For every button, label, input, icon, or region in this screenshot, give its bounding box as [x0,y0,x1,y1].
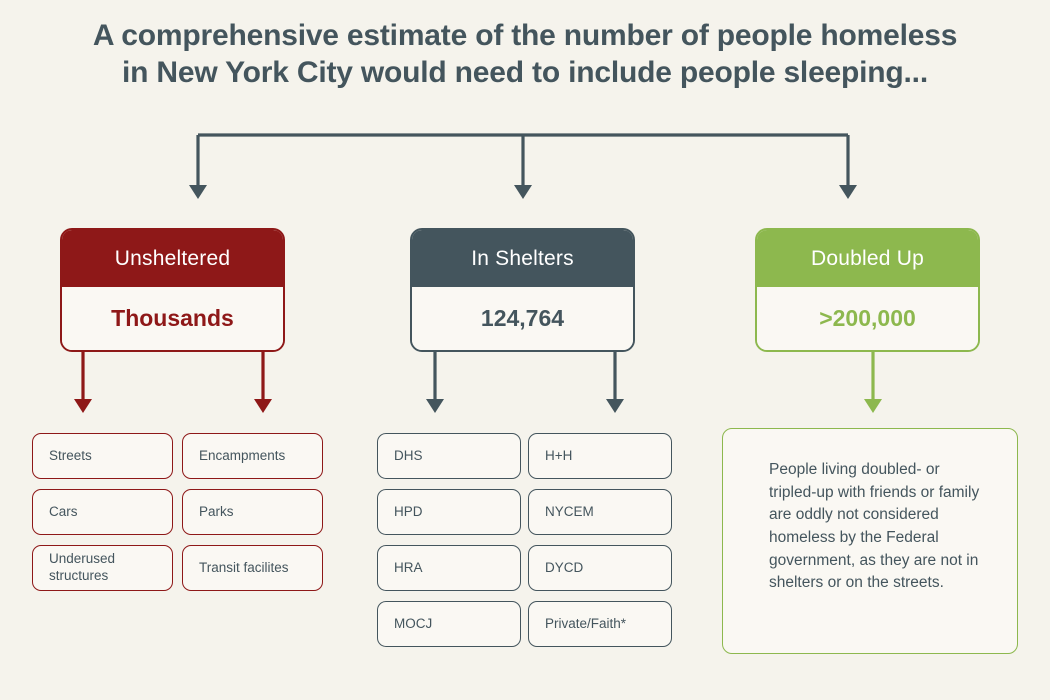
category-card-shelters[interactable]: In Shelters 124,764 [410,228,635,352]
list-item-shelter-nycem[interactable]: NYCEM [528,489,672,535]
category-card-doubled-up[interactable]: Doubled Up >200,000 [755,228,980,352]
category-value-shelters: 124,764 [412,287,633,350]
arrowhead-shelters-right [606,399,624,413]
chip-label: Encampments [199,448,285,465]
category-header-unsheltered: Unsheltered [62,230,283,287]
arrowhead-doubled-up-bottom [864,399,882,413]
top-bracket-connector [0,0,1050,210]
chip-label: Private/Faith* [545,616,626,633]
chip-label: DHS [394,448,423,465]
arrowhead-doubled-up [839,185,857,199]
chip-label: Cars [49,504,78,521]
arrowhead-unsheltered [189,185,207,199]
list-item-shelter-mocj[interactable]: MOCJ [377,601,521,647]
list-item-unsheltered-transit-facilities[interactable]: Transit facilites [182,545,323,591]
list-item-unsheltered-cars[interactable]: Cars [32,489,173,535]
chip-label: Underused structures [49,551,162,585]
list-item-shelter-private-faith[interactable]: Private/Faith* [528,601,672,647]
chip-label: HRA [394,560,423,577]
list-item-unsheltered-underused-structures[interactable]: Underused structures [32,545,173,591]
doubled-up-note-text: People living doubled- or tripled-up wit… [769,461,979,591]
list-item-shelter-hra[interactable]: HRA [377,545,521,591]
arrowhead-unsheltered-left [74,399,92,413]
list-item-unsheltered-streets[interactable]: Streets [32,433,173,479]
category-value-unsheltered: Thousands [62,287,283,350]
doubled-up-note-panel: People living doubled- or tripled-up wit… [722,428,1018,654]
chip-label: NYCEM [545,504,594,521]
chip-label: Transit facilites [199,560,289,577]
arrowhead-shelters-left [426,399,444,413]
arrowhead-unsheltered-right [254,399,272,413]
list-item-shelter-dycd[interactable]: DYCD [528,545,672,591]
category-card-unsheltered[interactable]: Unsheltered Thousands [60,228,285,352]
chip-label: MOCJ [394,616,432,633]
category-header-doubled-up: Doubled Up [757,230,978,287]
chip-label: HPD [394,504,423,521]
category-header-shelters: In Shelters [412,230,633,287]
chip-label: Parks [199,504,234,521]
list-item-shelter-hh[interactable]: H+H [528,433,672,479]
list-item-unsheltered-encampments[interactable]: Encampments [182,433,323,479]
chip-label: DYCD [545,560,583,577]
category-value-doubled-up: >200,000 [757,287,978,350]
chip-label: Streets [49,448,92,465]
arrowhead-shelters [514,185,532,199]
chip-label: H+H [545,448,572,465]
list-item-shelter-dhs[interactable]: DHS [377,433,521,479]
list-item-unsheltered-parks[interactable]: Parks [182,489,323,535]
list-item-shelter-hpd[interactable]: HPD [377,489,521,535]
